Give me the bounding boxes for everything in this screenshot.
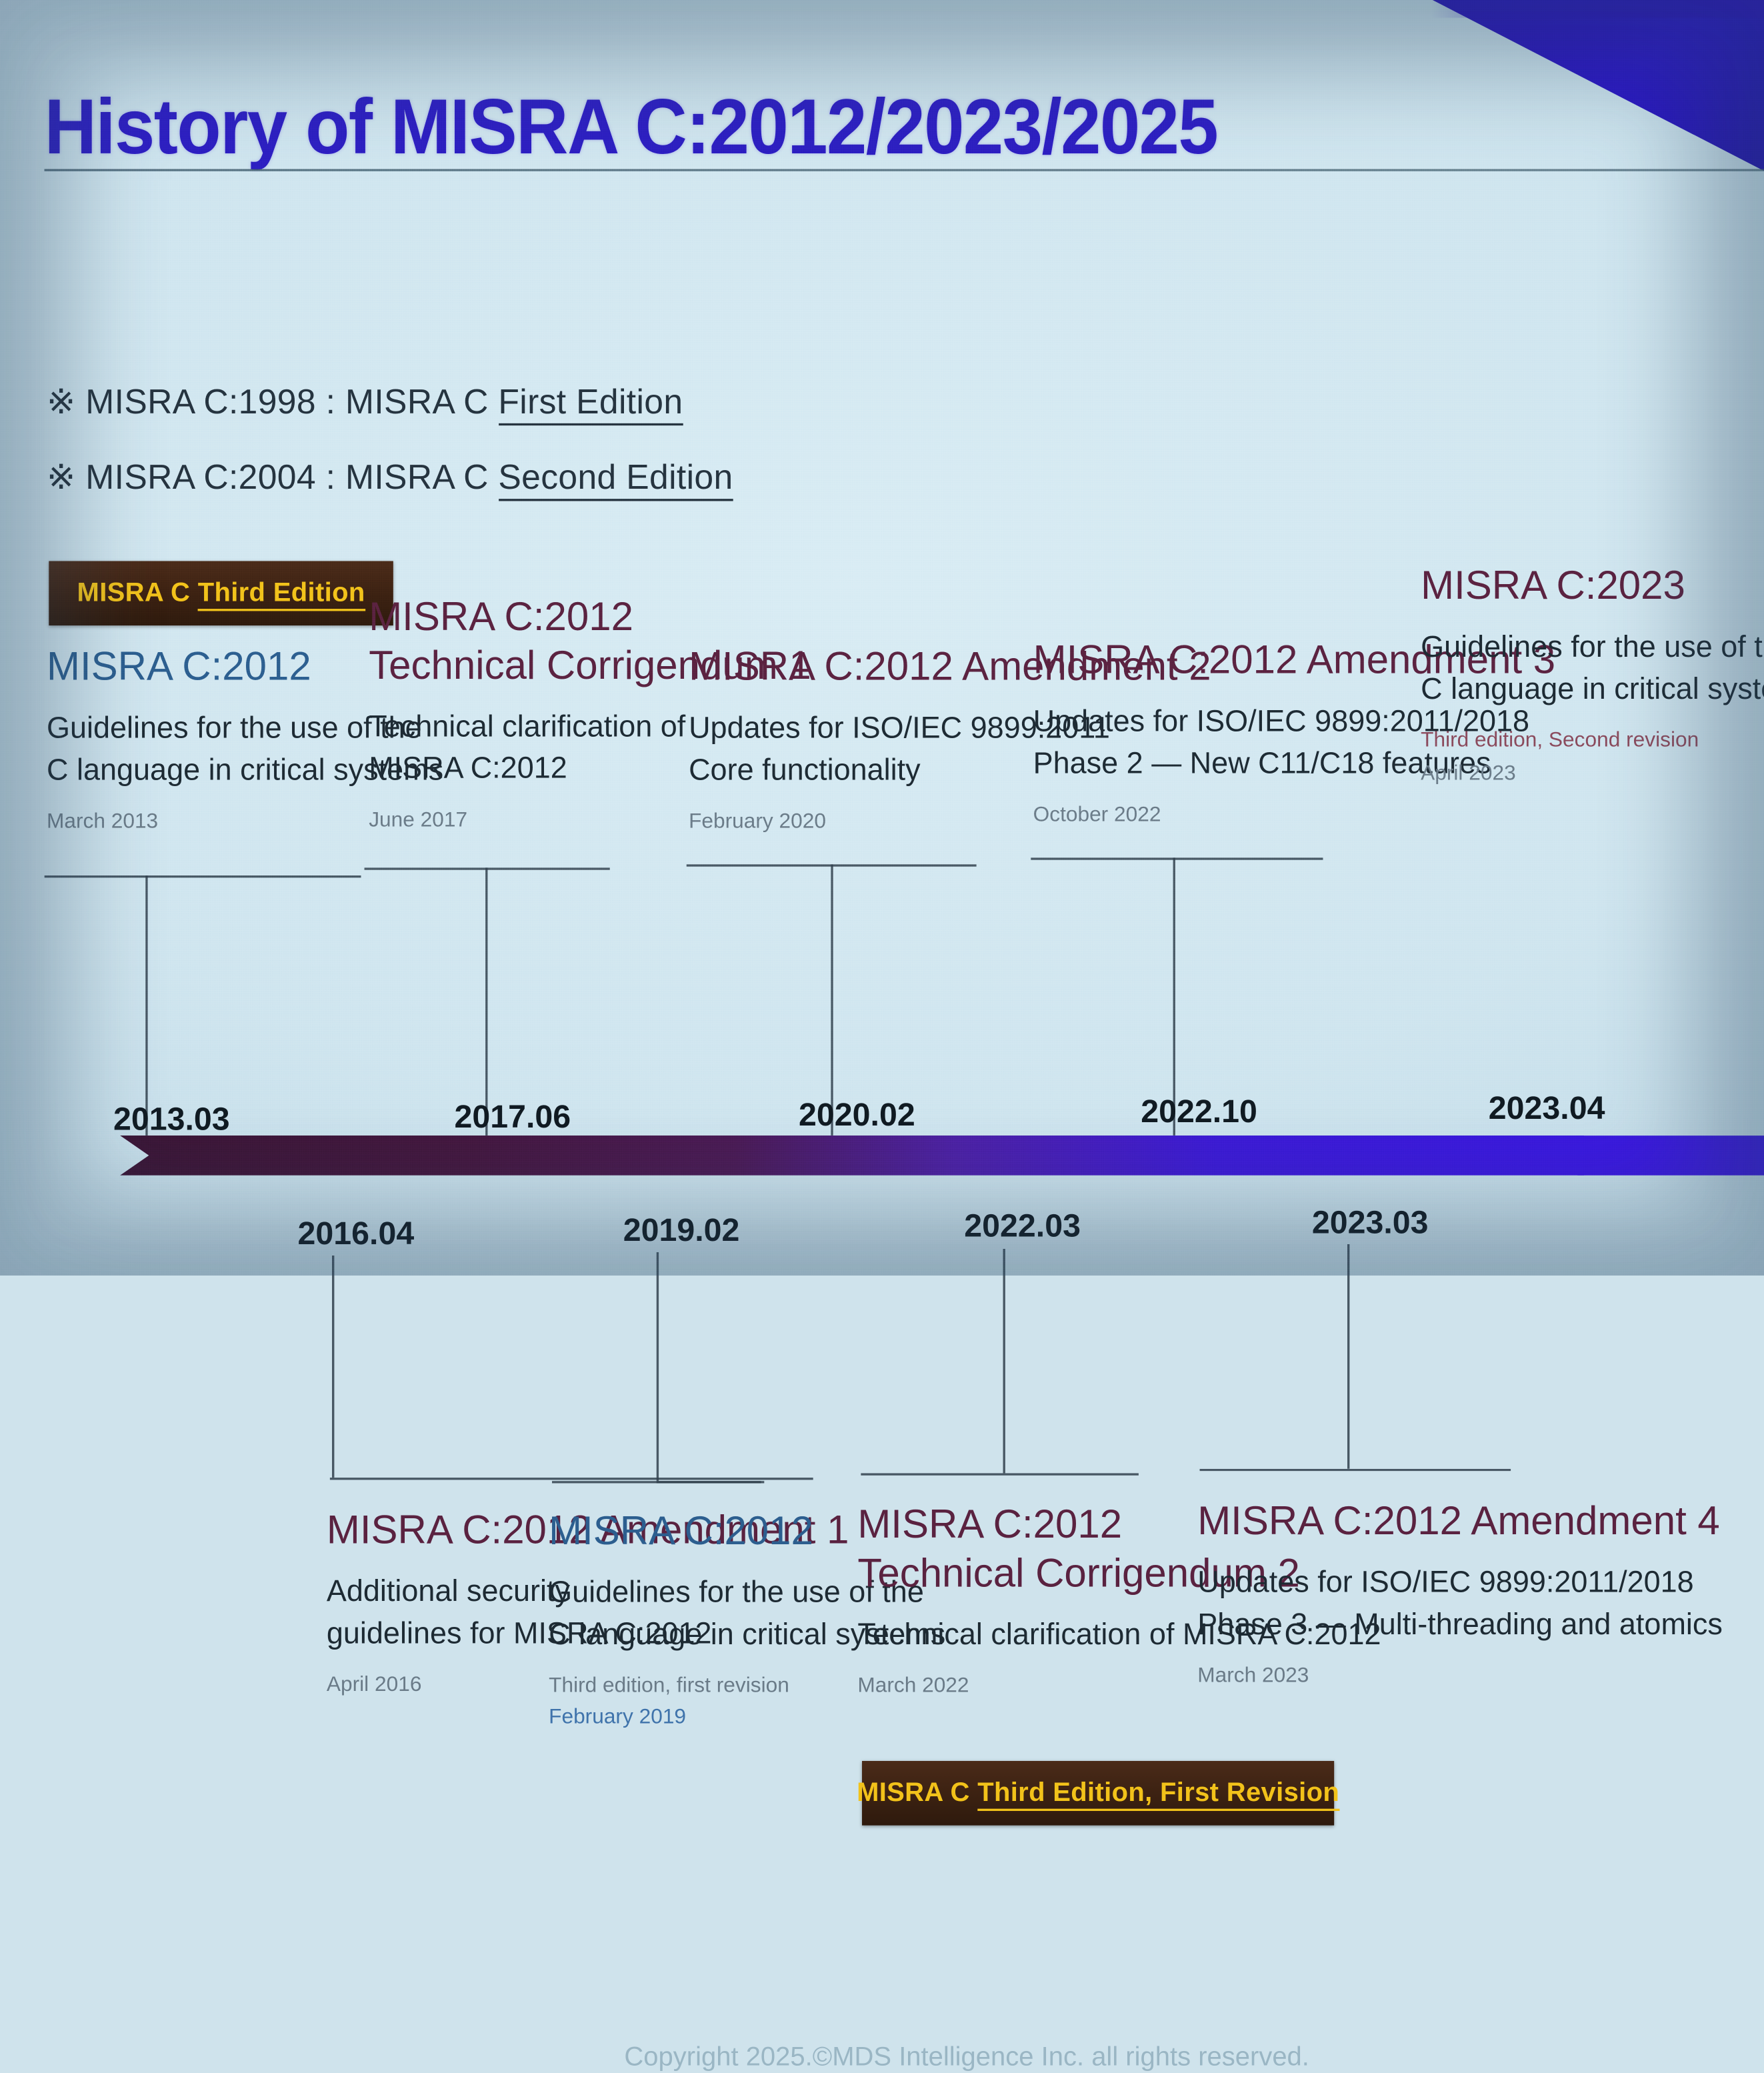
- timeline-date-2019-02: 2019.02: [623, 1214, 740, 1250]
- title-divider: [45, 169, 1764, 171]
- timeline-date-2022-10: 2022.10: [1141, 1094, 1257, 1131]
- card-body-line1: Guidelines for the use of the: [1421, 627, 1764, 667]
- card-meta-date: April 2023: [1421, 759, 1764, 788]
- card-connector-stem: [831, 864, 833, 1136]
- card-rule: [45, 875, 361, 877]
- badge-tefr-prefix: MISRA C: [857, 1778, 977, 1808]
- timeline-date-2017-06: 2017.06: [454, 1100, 571, 1137]
- timeline-card-amendment-4: MISRA C:2012 Amendment 4 Updates for ISO…: [1197, 1496, 1719, 1690]
- timeline-date-2023-03: 2023.03: [1312, 1206, 1429, 1242]
- card-connector-stem: [1003, 1249, 1005, 1474]
- footer-copyright: Copyright 2025.©MDS Intelligence Inc. al…: [624, 2042, 1309, 2073]
- card-rule-right: [657, 1481, 765, 1483]
- slide-canvas: History of MISRA C:2012/2023/2025 ※ MISR…: [0, 0, 1764, 1276]
- corner-decoration-bar-icon: [1431, 0, 1764, 18]
- timeline-date-2013-03: 2013.03: [113, 1102, 230, 1139]
- card-connector-stem: [657, 1252, 659, 1481]
- card-meta-date: March 2023: [1197, 1662, 1719, 1691]
- note-misra-1998: ※ MISRA C:1998 : MISRA C First Edition: [47, 382, 683, 422]
- card-meta-revision: Third edition, Second revision: [1421, 727, 1764, 755]
- card-title: MISRA C:2023: [1421, 561, 1764, 609]
- timeline-bar-left: [120, 1136, 1584, 1176]
- timeline-date-2016-04: 2016.04: [298, 1217, 415, 1254]
- card-title: MISRA C:2012: [369, 592, 835, 641]
- note-misra-1998-emphasis: First Edition: [498, 382, 683, 425]
- note-misra-2004-emphasis: Second Edition: [498, 457, 733, 501]
- note-misra-2004: ※ MISRA C:2004 : MISRA C Second Edition: [47, 457, 733, 497]
- card-connector-stem: [332, 1256, 334, 1478]
- card-rule: [1031, 857, 1323, 859]
- corner-decoration-icon: [1419, 0, 1764, 177]
- timeline-card-misra-c-2023: MISRA C:2023 Guidelines for the use of t…: [1421, 561, 1764, 788]
- timeline-date-2020-02: 2020.02: [799, 1098, 915, 1134]
- card-body-line1: Updates for ISO/IEC 9899:2011/2018: [1197, 1563, 1719, 1602]
- card-meta-date: February 2019: [549, 1703, 1026, 1732]
- badge-third-edition: MISRA C Third Edition: [49, 561, 393, 625]
- note-misra-2004-prefix: ※ MISRA C:2004 : MISRA C: [47, 457, 498, 496]
- card-body-line2: Phase 3 — Multi-threading and atomics: [1197, 1605, 1719, 1644]
- card-meta-date: October 2022: [1033, 801, 1555, 830]
- card-body-line2: C language in critical systems: [1421, 669, 1764, 709]
- timeline-date-2022-03: 2022.03: [964, 1209, 1081, 1246]
- card-rule: [861, 1473, 1139, 1475]
- badge-third-edition-prefix: MISRA C: [77, 577, 198, 607]
- card-rule: [330, 1478, 813, 1480]
- badge-third-edition-emphasis: Third Edition: [198, 577, 365, 611]
- card-rule: [1200, 1469, 1511, 1471]
- card-title: MISRA C:2012 Amendment 4: [1197, 1496, 1719, 1545]
- note-misra-1998-prefix: ※ MISRA C:1998 : MISRA C: [47, 382, 498, 421]
- page-title: History of MISRA C:2012/2023/2025: [45, 82, 1218, 171]
- card-connector-stem: [485, 867, 487, 1136]
- card-connector-stem: [145, 875, 147, 1136]
- card-connector-stem: [1347, 1244, 1349, 1469]
- timeline-bar-right-arrow: [1577, 1136, 1764, 1176]
- badge-third-edition-first-revision: MISRA C Third Edition, First Revision: [862, 1761, 1334, 1826]
- badge-tefr-emphasis: Third Edition, First Revision: [977, 1778, 1339, 1811]
- timeline-date-2023-04: 2023.04: [1489, 1091, 1605, 1128]
